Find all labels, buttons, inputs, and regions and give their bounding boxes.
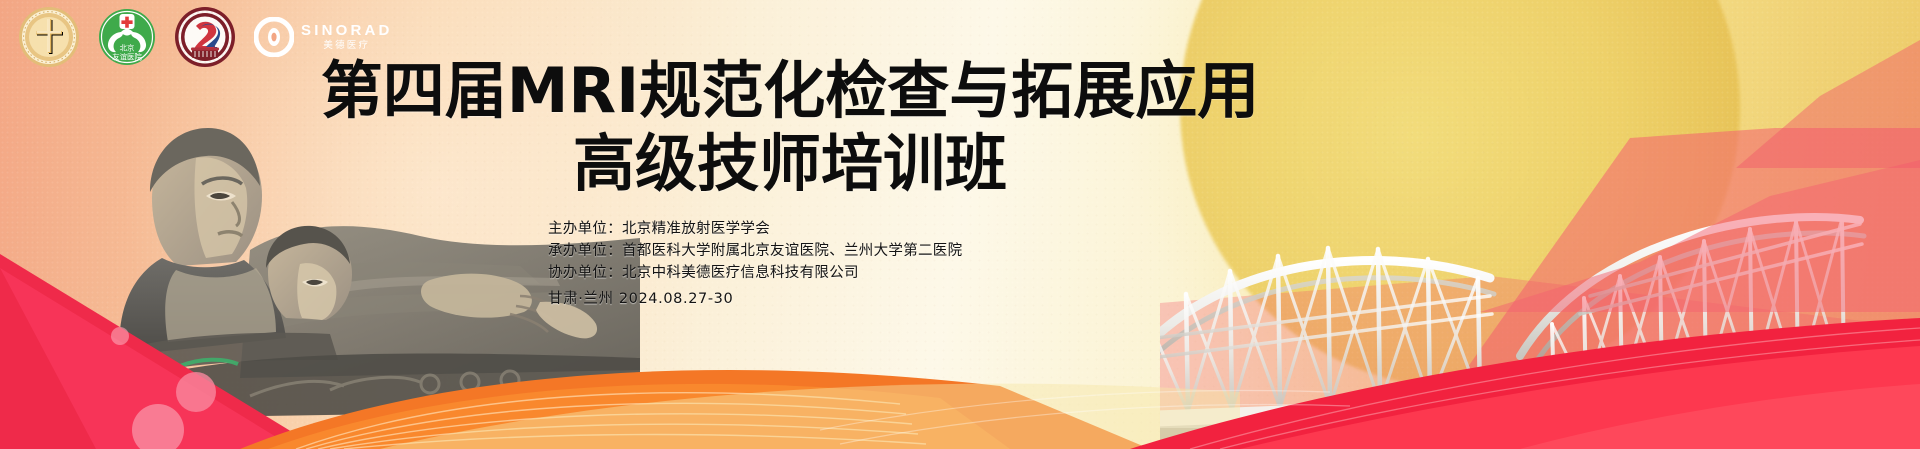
info-line-organizer: 承办单位：首都医科大学附属北京友谊医院、兰州大学第二医院: [548, 240, 962, 262]
svg-text:友谊医院: 友谊医院: [112, 52, 142, 61]
sinorad-brand-en: SINORAD: [301, 23, 393, 38]
svg-text:北京: 北京: [120, 44, 135, 53]
gold-medallion-logo: [18, 6, 80, 68]
logo-row: 北京 友谊医院: [18, 6, 393, 68]
info-line-location-date: 甘肃·兰州 2024.08.27-30: [548, 288, 962, 310]
banner-title: 第四届MRI规范化检查与拓展应用 高级技师培训班: [0, 58, 1520, 198]
beijing-friendship-hospital-logo: 北京 友谊医院: [98, 8, 156, 66]
maroon-emblem-logo: [174, 6, 236, 68]
sinorad-logo: SINORAD 美德医疗: [254, 17, 393, 57]
title-line-2: 高级技师培训班: [60, 131, 1520, 198]
organizer-info-block: 主办单位：北京精准放射医学学会 承办单位：首都医科大学附属北京友谊医院、兰州大学…: [548, 218, 962, 310]
sinorad-mark-icon: [254, 17, 294, 57]
info-line-host: 主办单位：北京精准放射医学学会: [548, 218, 962, 240]
sinorad-brand-cn: 美德医疗: [323, 41, 370, 51]
conference-banner: 北京 友谊医院: [0, 0, 1920, 449]
info-line-co-organizer: 协办单位：北京中科美德医疗信息科技有限公司: [548, 262, 962, 284]
title-line-1: 第四届MRI规范化检查与拓展应用: [60, 58, 1520, 125]
